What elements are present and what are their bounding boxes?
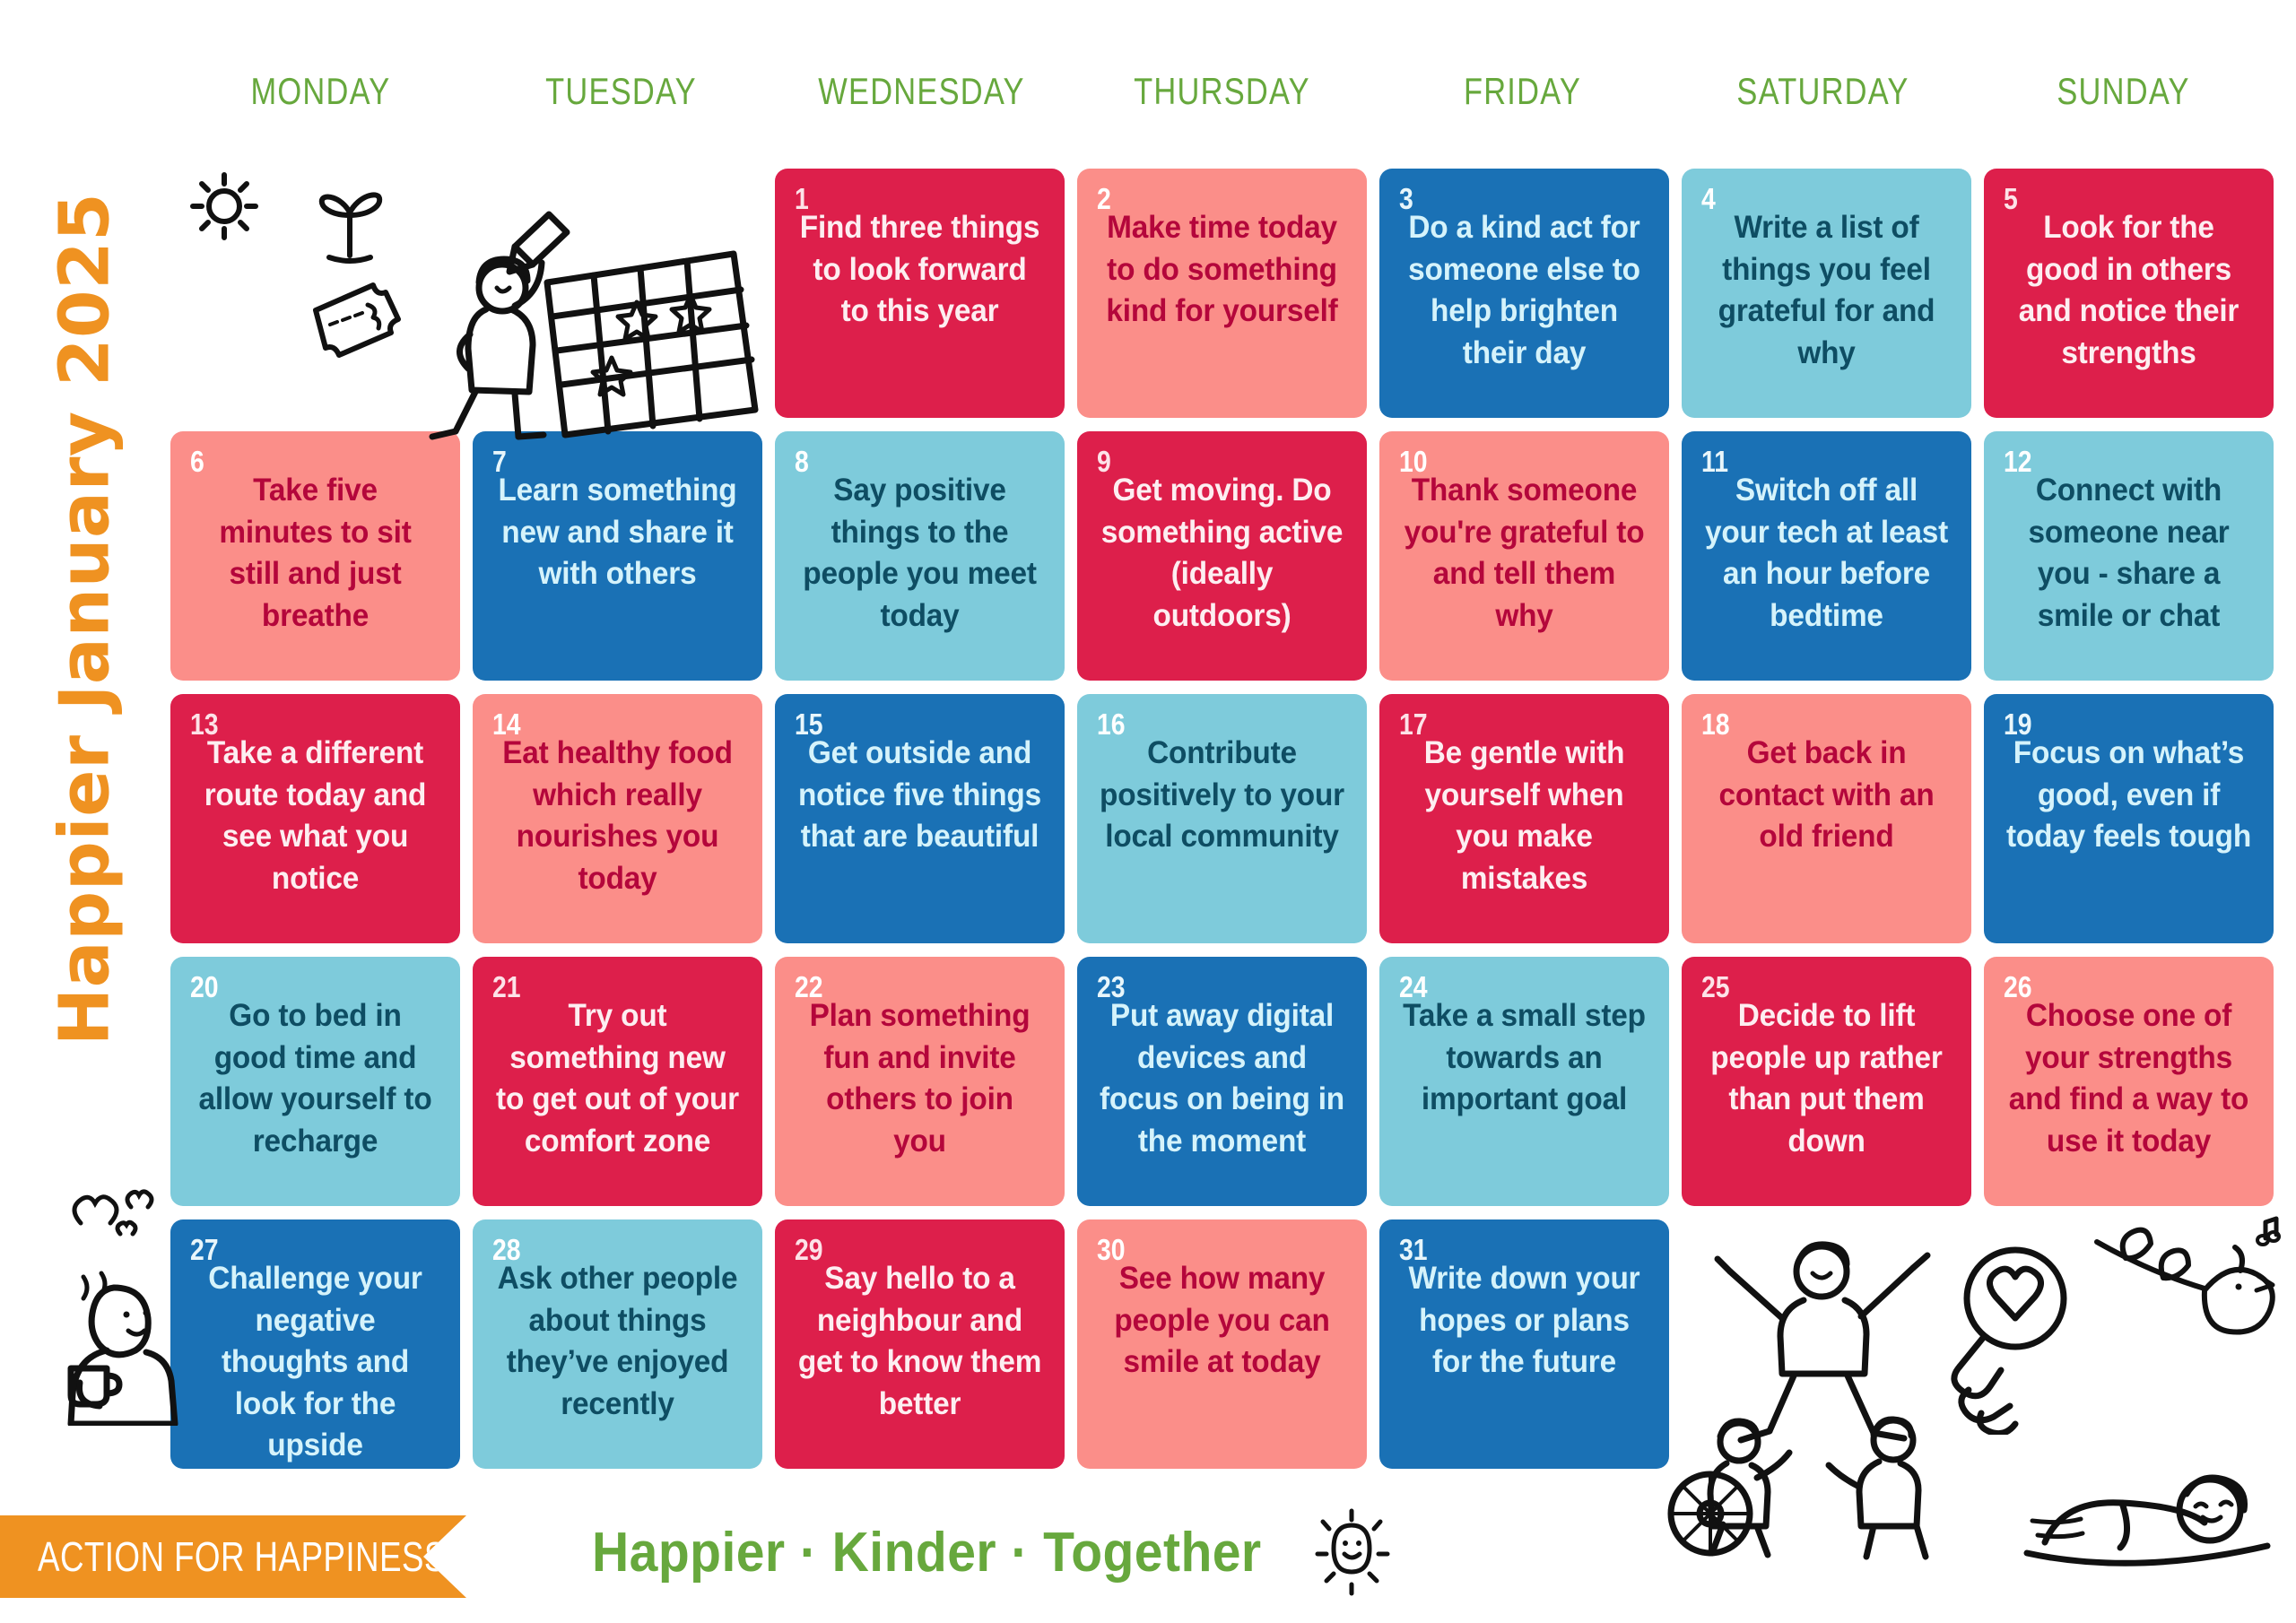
calendar-cell-day-8[interactable]: 8Say positive things to the people you m… <box>775 431 1065 681</box>
page-title: Happier January 2025 <box>46 192 126 1046</box>
day-action-text: Connect with someone near you - share a … <box>2005 469 2253 664</box>
weekday-label-friday: FRIDAY <box>1399 70 1646 113</box>
day-action-text: Get moving. Do something active (ideally… <box>1098 469 1346 664</box>
day-action-text: See how many people you can smile at tod… <box>1098 1257 1346 1453</box>
day-action-text: Go to bed in good time and allow yoursel… <box>191 994 439 1190</box>
calendar-cell-day-1[interactable]: 1Find three things to look forward to th… <box>775 169 1065 418</box>
day-action-text: Put away digital devices and focus on be… <box>1098 994 1346 1190</box>
tagline: Happier · Kinder · Together <box>592 1521 1262 1584</box>
weekday-label-wednesday: WEDNESDAY <box>798 70 1045 113</box>
weekday-label-monday: MONDAY <box>197 70 444 113</box>
calendar-cell-day-5[interactable]: 5Look for the good in others and notice … <box>1984 169 2274 418</box>
weekday-label-thursday: THURSDAY <box>1099 70 1345 113</box>
day-action-text: Take five minutes to sit still and just … <box>191 469 439 664</box>
magnifier-heart-doodle <box>1933 1237 2103 1435</box>
seedling-doodle <box>300 175 399 269</box>
bird-on-branch-doodle <box>2090 1215 2287 1358</box>
calendar-cell-day-18[interactable]: 18Get back in contact with an old friend <box>1682 694 1971 943</box>
calendar-cell-day-10[interactable]: 10Thank someone you're grateful to and t… <box>1379 431 1669 681</box>
calendar-cell-day-24[interactable]: 24Take a small step towards an important… <box>1379 957 1669 1206</box>
day-action-text: Write down your hopes or plans for the f… <box>1400 1257 1648 1453</box>
footer: ACTION FOR HAPPINESS Happier · Kinder · … <box>0 1515 2296 1598</box>
sun-doodle <box>184 166 265 247</box>
day-action-text: Say hello to a neighbour and get to know… <box>796 1257 1044 1453</box>
day-action-text: Do a kind act for someone else to help b… <box>1400 206 1648 402</box>
weekday-label-sunday: SUNDAY <box>2000 70 2247 113</box>
day-action-text: Make time today to do something kind for… <box>1098 206 1346 402</box>
day-action-text: Try out something new to get out of your… <box>493 994 742 1190</box>
calendar-cell-day-17[interactable]: 17Be gentle with yourself when you make … <box>1379 694 1669 943</box>
person-with-hot-drink-doodle <box>49 1255 184 1426</box>
day-action-text: Decide to lift people up rather than put… <box>1702 994 1951 1190</box>
calendar-cell-day-28[interactable]: 28Ask other people about things they’ve … <box>473 1219 762 1469</box>
day-action-text: Challenge your negative thoughts and loo… <box>191 1257 439 1466</box>
day-action-text: Say positive things to the people you me… <box>796 469 1044 664</box>
calendar-cell-day-14[interactable]: 14Eat healthy food which really nourishe… <box>473 694 762 943</box>
calendar-cell-day-31[interactable]: 31Write down your hopes or plans for the… <box>1379 1219 1669 1469</box>
brand-label: ACTION FOR HAPPINESS <box>38 1532 447 1581</box>
people-celebrating-doodle <box>1664 1228 1969 1560</box>
calendar-cell-day-19[interactable]: 19Focus on what’s good, even if today fe… <box>1984 694 2274 943</box>
day-action-text: Choose one of your strengths and find a … <box>2005 994 2253 1190</box>
calendar-cell-day-30[interactable]: 30See how many people you can smile at t… <box>1077 1219 1367 1469</box>
day-action-text: Thank someone you're grateful to and tel… <box>1400 469 1648 664</box>
calendar-cell-day-27[interactable]: 27Challenge your negative thoughts and l… <box>170 1219 460 1469</box>
calendar-cell-day-23[interactable]: 23Put away digital devices and focus on … <box>1077 957 1367 1206</box>
day-action-text: Get back in contact with an old friend <box>1702 732 1951 927</box>
calendar-cell-day-9[interactable]: 9Get moving. Do something active (ideall… <box>1077 431 1367 681</box>
calendar-cell-day-4[interactable]: 4Write a list of things you feel gratefu… <box>1682 169 1971 418</box>
action-for-happiness-ribbon: ACTION FOR HAPPINESS <box>0 1515 466 1598</box>
hearts-doodle <box>65 1175 163 1246</box>
day-action-text: Ask other people about things they’ve en… <box>493 1257 742 1453</box>
calendar-cell-day-22[interactable]: 22Plan something fun and invite others t… <box>775 957 1065 1206</box>
day-action-text: Take a small step towards an important g… <box>1400 994 1648 1190</box>
day-action-text: Write a list of things you feel grateful… <box>1702 206 1951 402</box>
day-action-text: Switch off all your tech at least an hou… <box>1702 469 1951 664</box>
weekday-label-tuesday: TUESDAY <box>498 70 744 113</box>
day-action-text: Take a different route today and see wha… <box>191 732 439 927</box>
calendar-cell-day-13[interactable]: 13Take a different route today and see w… <box>170 694 460 943</box>
calendar-cell-day-11[interactable]: 11Switch off all your tech at least an h… <box>1682 431 1971 681</box>
calendar-cell-day-3[interactable]: 3Do a kind act for someone else to help … <box>1379 169 1669 418</box>
calendar-cell-day-6[interactable]: 6Take five minutes to sit still and just… <box>170 431 460 681</box>
calendar-cell-day-29[interactable]: 29Say hello to a neighbour and get to kn… <box>775 1219 1065 1469</box>
calendar-page: Happier January 2025 MONDAY TUESDAY WEDN… <box>0 0 2296 1623</box>
day-action-text: Get outside and notice five things that … <box>796 732 1044 927</box>
calendar-cell-day-20[interactable]: 20Go to bed in good time and allow yours… <box>170 957 460 1206</box>
day-action-text: Learn something new and share it with ot… <box>493 469 742 664</box>
calendar-cell-day-7[interactable]: 7Learn something new and share it with o… <box>473 431 762 681</box>
page-title-container: Happier January 2025 <box>0 117 170 1121</box>
ticket-doodle <box>303 278 411 360</box>
day-action-text: Contribute positively to your local comm… <box>1098 732 1346 927</box>
calendar-cell-day-16[interactable]: 16Contribute positively to your local co… <box>1077 694 1367 943</box>
weekday-label-saturday: SATURDAY <box>1700 70 1946 113</box>
day-action-text: Eat healthy food which really nourishes … <box>493 732 742 927</box>
day-action-text: Look for the good in others and notice t… <box>2005 206 2253 402</box>
day-action-text: Be gentle with yourself when you make mi… <box>1400 732 1648 927</box>
calendar-cell-day-12[interactable]: 12Connect with someone near you - share … <box>1984 431 2274 681</box>
person-drawing-calendar-doodle <box>422 202 771 444</box>
calendar-cell-day-25[interactable]: 25Decide to lift people up rather than p… <box>1682 957 1971 1206</box>
calendar-cell-day-2[interactable]: 2Make time today to do something kind fo… <box>1077 169 1367 418</box>
day-action-text: Find three things to look forward to thi… <box>796 206 1044 402</box>
calendar-cell-day-26[interactable]: 26Choose one of your strengths and find … <box>1984 957 2274 1206</box>
weekday-header-row: MONDAY TUESDAY WEDNESDAY THURSDAY FRIDAY… <box>170 70 2274 113</box>
calendar-cell-day-15[interactable]: 15Get outside and notice five things tha… <box>775 694 1065 943</box>
day-action-text: Plan something fun and invite others to … <box>796 994 1044 1190</box>
calendar-cell-day-21[interactable]: 21Try out something new to get out of yo… <box>473 957 762 1206</box>
day-action-text: Focus on what’s good, even if today feel… <box>2005 732 2253 927</box>
